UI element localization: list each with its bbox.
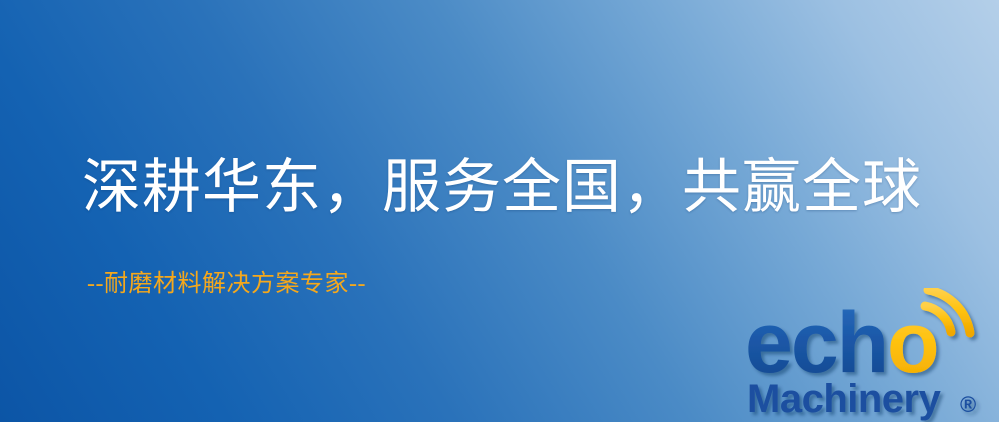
echo-machinery-logo: ech o Machinery ® [745,288,999,422]
registered-trademark-icon: ® [960,392,976,417]
wordmark-machinery: Machinery ® [747,377,976,421]
banner-subtitle: --耐磨材料解决方案专家-- [87,269,366,299]
logo-artwork: ech o Machinery ® [745,288,999,422]
svg-text:Machinery: Machinery [747,377,942,421]
promotional-banner: 深耕华东，服务全国，共赢全球 --耐磨材料解决方案专家-- [0,0,999,422]
banner-headline: 深耕华东，服务全国，共赢全球 [82,152,922,222]
